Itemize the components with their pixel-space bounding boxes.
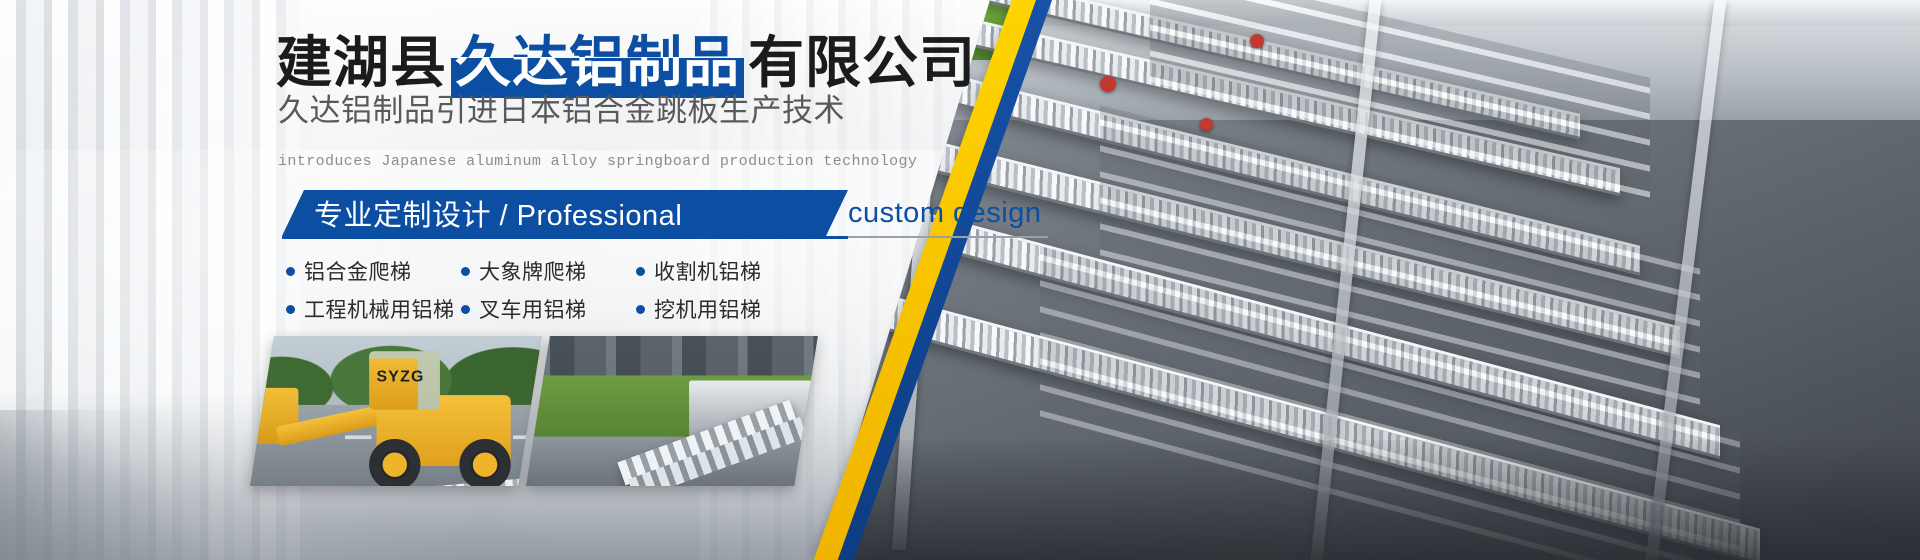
feature-item: 收割机铝梯 (636, 256, 836, 286)
feature-label: 工程机械用铝梯 (304, 294, 455, 324)
thumb1-wheel (369, 439, 420, 486)
feature-item: 挖机用铝梯 (636, 294, 836, 324)
subtitle-english: introduces Japanese aluminum alloy sprin… (278, 152, 917, 172)
slogan-underline-primary (282, 236, 848, 239)
slogan-bar: 专业定制设计 / Professional (282, 190, 848, 236)
feature-row: 工程机械用铝梯 叉车用铝梯 挖机用铝梯 (286, 290, 986, 328)
slogan-primary: 专业定制设计 / Professional (314, 190, 682, 236)
bullet-dot-icon (286, 305, 295, 314)
thumb1-brand-logo: SYZG (376, 367, 424, 385)
bullet-dot-icon (461, 305, 470, 314)
feature-item: 叉车用铝梯 (461, 294, 636, 324)
promo-banner: 建湖县 久达铝制品 有限公司 久达铝制品引进日本铝合金跳板生产技术 introd… (0, 0, 1920, 560)
feature-item: 大象牌爬梯 (461, 256, 636, 286)
feature-item: 工程机械用铝梯 (286, 294, 461, 324)
bullet-dot-icon (636, 305, 645, 314)
feature-list: 铝合金爬梯 大象牌爬梯 收割机铝梯 工程机械用铝梯 叉车用铝 (286, 252, 986, 328)
company-title-highlight: 久达铝制品 (455, 31, 740, 94)
feature-label: 挖机用铝梯 (654, 294, 762, 324)
thumbnail-truck-ramp-photo (526, 336, 818, 486)
company-title-prefix: 建湖县 (276, 32, 447, 94)
slogan-secondary: custom design (848, 190, 1042, 236)
feature-label: 叉车用铝梯 (479, 294, 587, 324)
feature-row: 铝合金爬梯 大象牌爬梯 收割机铝梯 (286, 252, 986, 290)
ramp-red-marker (1200, 118, 1213, 131)
company-title: 建湖县 久达铝制品 有限公司 (276, 32, 976, 94)
company-title-highlight-wrap: 久达铝制品 (455, 32, 740, 94)
bullet-dot-icon (461, 267, 470, 276)
thumb2-parked-cars (526, 336, 818, 376)
thumbnail-loader-photo: SYZG (250, 336, 542, 486)
company-title-suffix: 有限公司 (748, 32, 976, 94)
ramp-red-marker (1100, 76, 1116, 92)
feature-label: 收割机铝梯 (654, 256, 762, 286)
feature-label: 铝合金爬梯 (304, 256, 412, 286)
slogan-underline-secondary (848, 236, 1048, 238)
subtitle-chinese: 久达铝制品引进日本铝合金跳板生产技术 (278, 92, 845, 130)
feature-item: 铝合金爬梯 (286, 256, 461, 286)
feature-label: 大象牌爬梯 (479, 256, 587, 286)
bullet-dot-icon (636, 267, 645, 276)
thumb1-wheel (459, 439, 510, 486)
ramp-red-marker (1250, 34, 1264, 48)
banner-content: 建湖县 久达铝制品 有限公司 久达铝制品引进日本铝合金跳板生产技术 introd… (0, 0, 1060, 560)
bullet-dot-icon (286, 267, 295, 276)
thumbnail-gallery: SYZG (262, 336, 822, 486)
